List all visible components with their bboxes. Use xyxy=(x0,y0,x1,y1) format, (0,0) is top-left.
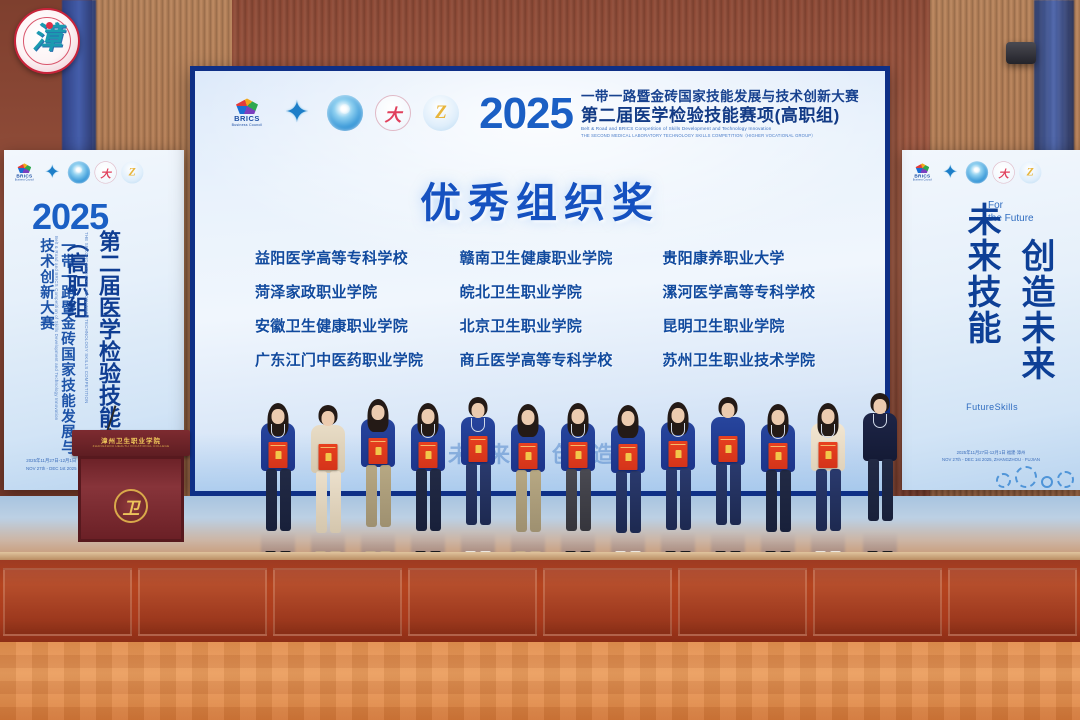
auditorium-award-ceremony-photo: 漳 BRICS Business Council ✦ 大 Z 2025 一带一路… xyxy=(0,0,1080,720)
face xyxy=(422,409,435,424)
brics-mark-icon xyxy=(916,163,930,173)
face xyxy=(272,409,285,424)
gear-icon xyxy=(996,473,1011,488)
certificate-folder xyxy=(819,442,838,468)
brics-logo-line2: Business Council xyxy=(15,179,34,181)
skills-star-logo: ✦ xyxy=(939,161,961,183)
legs xyxy=(514,470,542,532)
brics-logo-line1: BRICS xyxy=(234,115,260,123)
award-recipient-school-list: 益阳医学高等专科学校 赣南卫生健康职业学院 贵阳康养职业大学 菏泽家政职业学院 … xyxy=(247,247,843,370)
face xyxy=(672,408,685,423)
school-name: 贵阳康养职业大学 xyxy=(644,247,843,268)
auditorium-parquet-floor xyxy=(0,642,1080,720)
legs xyxy=(866,459,894,521)
globe-emblem-logo xyxy=(327,95,363,131)
face xyxy=(322,411,335,426)
certificate-folder xyxy=(369,438,388,464)
certificate-folder xyxy=(569,442,588,468)
brics-logo: BRICS Business Council xyxy=(227,93,267,133)
lanyard xyxy=(271,424,285,438)
face xyxy=(822,409,835,424)
face xyxy=(572,409,585,424)
banner-right-vertical-1: 未来技能 xyxy=(957,202,1006,412)
banner-right-date-en: NOV 27th - DEC 1st 2025, ZHANGZHOU · FUJ… xyxy=(902,456,1080,464)
school-name: 皖北卫生职业学院 xyxy=(446,281,645,302)
emblem-circle-icon: 漳 xyxy=(14,8,80,74)
certificate-folder xyxy=(619,444,638,470)
person xyxy=(808,406,848,552)
stage-front-panel xyxy=(543,568,672,636)
person xyxy=(358,402,398,552)
banner-left-date-cn: 2025年11月27日-12月1日 xyxy=(26,457,77,464)
podium-body: 卫 xyxy=(78,456,184,542)
legs xyxy=(814,469,842,531)
school-name: 漯河医学高等专科学校 xyxy=(644,281,843,302)
stage-front-panel xyxy=(138,568,267,636)
banner-right-date-cn: 2025年11月27日-12月1日 福建·漳州 xyxy=(902,449,1080,457)
stage-front-panel xyxy=(273,568,402,636)
banner-left-logo-row: BRICS Business Council ✦ 大 Z xyxy=(12,160,143,185)
screen-header-line2: 第二届医学检验技能赛项(高职组) xyxy=(581,106,859,125)
legs xyxy=(414,469,442,531)
face xyxy=(722,403,735,418)
school-name: 广东江门中医药职业学院 xyxy=(247,349,446,370)
athlete-emblem-glyph: 大 xyxy=(100,165,111,181)
school-name: 苏州卫生职业技术学院 xyxy=(644,349,843,370)
screen-header: 2025 一带一路暨金砖国家技能发展与技术创新大赛 第二届医学检验技能赛项(高职… xyxy=(479,89,859,138)
banner-right: BRICS Business Council ✦ 大 Z For the Fut… xyxy=(902,150,1080,490)
athlete-emblem-logo: 大 xyxy=(375,95,411,131)
lightning-emblem-logo: Z xyxy=(423,95,459,131)
face xyxy=(522,410,535,425)
podium-top: 漳州卫生职业学院 ZHANGZHOU HEALTH VOCATIONAL COL… xyxy=(72,430,190,456)
lanyard xyxy=(471,418,485,432)
podium: 漳州卫生职业学院 ZHANGZHOU HEALTH VOCATIONAL COL… xyxy=(72,430,190,542)
face xyxy=(874,399,887,414)
person xyxy=(758,407,798,552)
skills-star-logo: ✦ xyxy=(279,95,315,131)
lanyard xyxy=(873,414,887,428)
certificate-folder xyxy=(269,442,288,468)
screen-logo-row: BRICS Business Council ✦ 大 Z xyxy=(227,93,459,133)
lanyard xyxy=(671,423,685,437)
stage-front-panel xyxy=(3,568,132,636)
legs xyxy=(664,468,692,530)
emblem-accent-dot-icon xyxy=(46,22,53,29)
person xyxy=(608,408,648,552)
brics-mark-icon xyxy=(18,163,32,173)
lanyard xyxy=(771,425,785,439)
school-name: 益阳医学高等专科学校 xyxy=(247,247,446,268)
athlete-emblem-glyph: 大 xyxy=(998,165,1009,181)
legs xyxy=(464,463,492,525)
stage-front-panels xyxy=(0,560,1080,644)
person xyxy=(558,406,598,552)
podium-subtitle: ZHANGZHOU HEALTH VOCATIONAL COLLEGE xyxy=(72,444,190,448)
face xyxy=(772,410,785,425)
stage-front-panel xyxy=(813,568,942,636)
gear-decoration-icons xyxy=(996,466,1074,488)
school-name: 商丘医学高等专科学校 xyxy=(446,349,645,370)
gear-icon xyxy=(1015,466,1037,488)
lightning-emblem-logo: Z xyxy=(1019,161,1041,183)
school-name: 赣南卫生健康职业学院 xyxy=(446,247,645,268)
athlete-emblem-logo: 大 xyxy=(992,161,1014,183)
certificate-folder xyxy=(419,442,438,468)
banner-right-vertical-2: 创造未来 xyxy=(1011,238,1060,468)
banner-right-logo-row: BRICS Business Council ✦ 大 Z xyxy=(910,160,1041,185)
person-host xyxy=(860,396,900,552)
lightning-emblem-logo: Z xyxy=(121,161,143,183)
school-name: 昆明卫生职业学院 xyxy=(644,315,843,336)
person xyxy=(458,400,498,552)
screen-header-lines: 一带一路暨金砖国家技能发展与技术创新大赛 第二届医学检验技能赛项(高职组) Be… xyxy=(581,89,859,138)
lanyard xyxy=(821,424,835,438)
lightning-emblem-glyph: Z xyxy=(435,102,447,124)
legs xyxy=(264,469,292,531)
face xyxy=(372,405,385,420)
banner-left-date-en: NOV 27th - DEC 1st 2025 xyxy=(26,465,77,472)
lightning-emblem-glyph: Z xyxy=(129,166,136,180)
banner-right-date: 2025年11月27日-12月1日 福建·漳州 NOV 27th - DEC 1… xyxy=(902,449,1080,464)
brics-logo-line2: Business Council xyxy=(232,124,263,128)
skills-star-logo: ✦ xyxy=(41,161,63,183)
face xyxy=(472,403,485,418)
stage-front-panel xyxy=(678,568,807,636)
brics-logo-line2: Business Council xyxy=(913,179,932,181)
globe-emblem-logo xyxy=(68,161,90,183)
screen-header-line1: 一带一路暨金砖国家技能发展与技术创新大赛 xyxy=(581,89,859,105)
banner-left-date: 2025年11月27日-12月1日 NOV 27th - DEC 1st 202… xyxy=(26,457,77,472)
stage-front-panel xyxy=(948,568,1077,636)
certificate-folder xyxy=(519,443,538,469)
legs xyxy=(764,470,792,532)
screen-year: 2025 xyxy=(479,93,573,135)
legs xyxy=(714,463,742,525)
award-recipients-row xyxy=(258,374,898,552)
person xyxy=(408,406,448,552)
gear-icon xyxy=(1057,471,1074,488)
lanyard xyxy=(571,424,585,438)
stage-front-panel xyxy=(408,568,537,636)
banner-right-futureskills-label: FutureSkills xyxy=(966,402,1018,412)
legs xyxy=(314,471,342,533)
spotlight-fixture-icon xyxy=(1006,42,1036,64)
award-title: 优秀组织奖 xyxy=(195,169,885,229)
legs xyxy=(564,469,592,531)
school-name: 菏泽家政职业学院 xyxy=(247,281,446,302)
brics-logo: BRICS Business Council xyxy=(12,160,37,185)
athlete-emblem-logo: 大 xyxy=(94,161,116,183)
certificate-folder xyxy=(469,436,488,462)
certificate-folder xyxy=(719,436,738,462)
face xyxy=(622,411,635,426)
lightning-emblem-glyph: Z xyxy=(1027,166,1034,180)
school-name: 北京卫生职业学院 xyxy=(446,315,645,336)
podium-seal-icon: 卫 xyxy=(114,489,148,523)
person xyxy=(708,400,748,552)
school-emblem: 漳 xyxy=(14,8,86,80)
person xyxy=(258,406,298,552)
person xyxy=(508,407,548,552)
person xyxy=(308,408,348,552)
certificate-folder xyxy=(319,444,338,470)
screen-header-line3: Belt & Road and BRICS Competition of Ski… xyxy=(581,126,859,132)
brics-logo: BRICS Business Council xyxy=(910,160,935,185)
brics-mark-icon xyxy=(236,98,258,114)
certificate-folder xyxy=(669,441,688,467)
legs xyxy=(614,471,642,533)
globe-emblem-logo xyxy=(966,161,988,183)
banner-left-vertical-en-sub: Belt & Road and BRICS Competition of Ski… xyxy=(54,236,59,472)
athlete-emblem-glyph: 大 xyxy=(385,101,402,126)
lanyard xyxy=(421,424,435,438)
school-name: 安徽卫生健康职业学院 xyxy=(247,315,446,336)
gear-icon xyxy=(1041,476,1053,488)
legs xyxy=(364,465,392,527)
person xyxy=(658,405,698,552)
screen-header-line4: THE SECOND MEDICAL LABORATORY TECHNOLOGY… xyxy=(581,133,859,138)
certificate-folder xyxy=(769,443,788,469)
